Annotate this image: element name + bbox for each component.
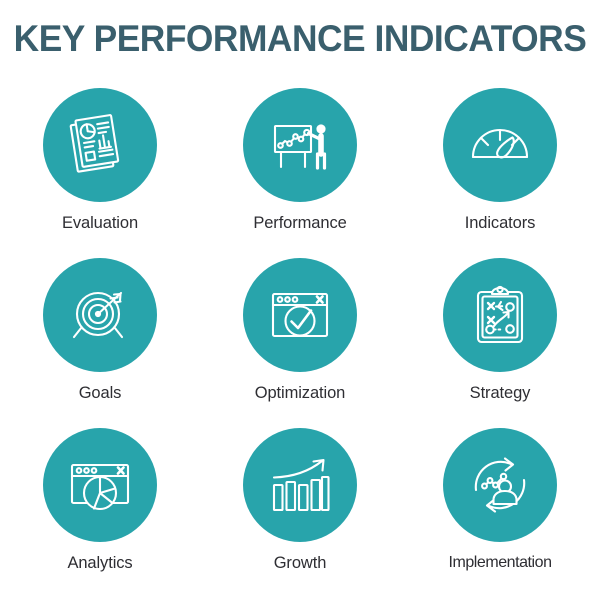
kpi-item-growth[interactable]: Growth [207,428,393,598]
badge-circle-optimization[interactable] [243,258,357,372]
badge-circle-goals[interactable] [43,258,157,372]
kpi-item-label: Optimization [255,383,346,403]
kpi-item-label: Indicators [465,213,536,233]
browser-window-check-icon [267,282,333,348]
kpi-item-label: Strategy [470,383,531,403]
badge-circle-performance[interactable] [243,88,357,202]
kpi-icon-grid: Evaluation Per [0,88,600,598]
kpi-item-analytics[interactable]: Analytics [7,428,193,598]
report-documents-icon [67,112,133,178]
kpi-item-label: Performance [253,213,346,233]
badge-circle-implementation[interactable] [443,428,557,542]
kpi-item-label: Growth [274,553,327,573]
kpi-item-evaluation[interactable]: Evaluation [7,88,193,258]
kpi-item-indicators[interactable]: Indicators [407,88,593,258]
kpi-item-label: Implementation [448,553,551,573]
kpi-item-optimization[interactable]: Optimization [207,258,393,428]
presentation-board-person-icon [267,112,333,178]
page-title: KEY PERFORMANCE INDICATORS [14,18,587,60]
kpi-item-label: Evaluation [62,213,138,233]
badge-circle-analytics[interactable] [43,428,157,542]
kpi-item-label: Goals [79,383,122,403]
badge-circle-indicators[interactable] [443,88,557,202]
target-arrow-icon [67,282,133,348]
badge-circle-strategy[interactable] [443,258,557,372]
badge-circle-evaluation[interactable] [43,88,157,202]
kpi-item-goals[interactable]: Goals [7,258,193,428]
clipboard-playbook-icon [467,282,533,348]
gauge-speedometer-icon [467,112,533,178]
kpi-item-label: Analytics [67,553,132,573]
kpi-item-implementation[interactable]: Implementation [407,428,593,598]
kpi-item-performance[interactable]: Performance [207,88,393,258]
bar-chart-arrow-up-icon [267,452,333,518]
refresh-cycle-person-icon [467,452,533,518]
badge-circle-growth[interactable] [243,428,357,542]
browser-window-pie-chart-icon [67,452,133,518]
kpi-infographic: KEY PERFORMANCE INDICATORS [0,0,600,600]
kpi-item-strategy[interactable]: Strategy [407,258,593,428]
